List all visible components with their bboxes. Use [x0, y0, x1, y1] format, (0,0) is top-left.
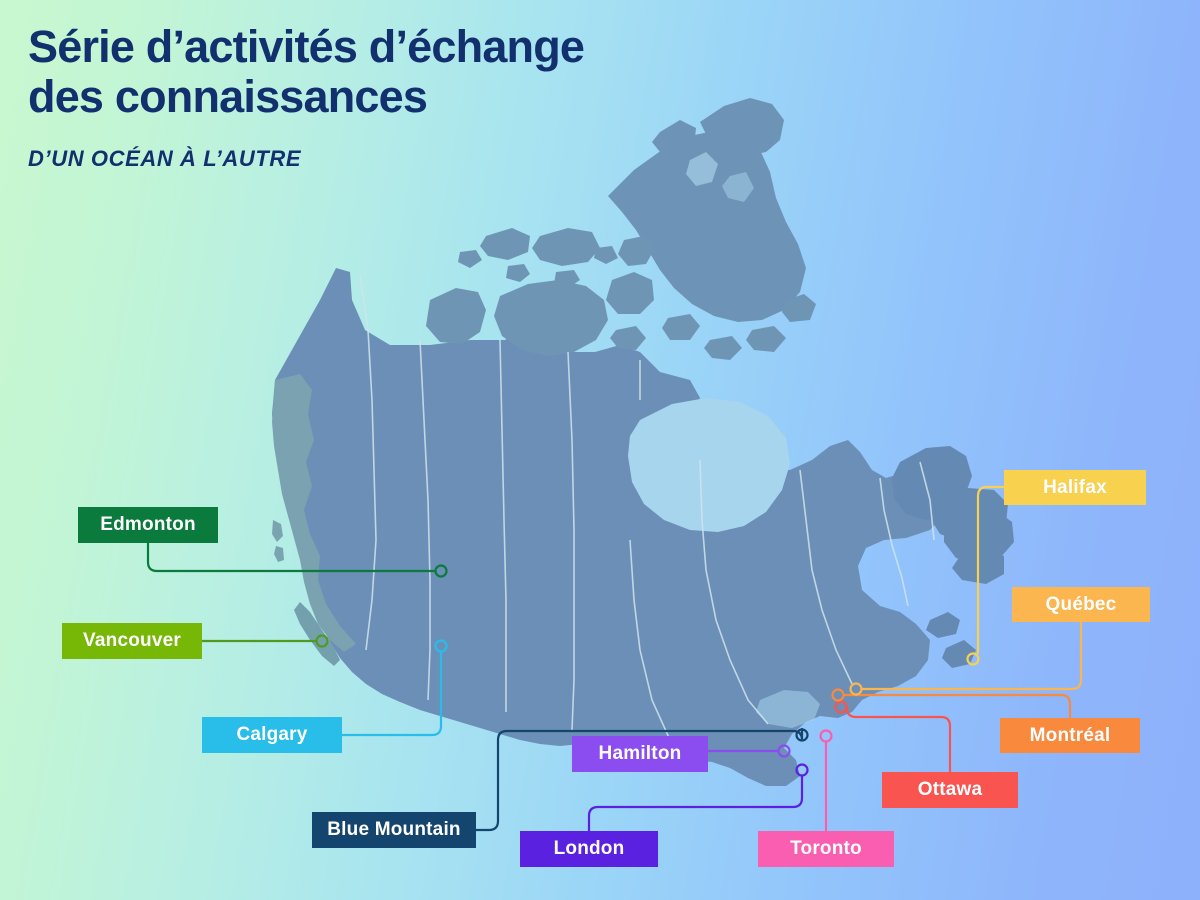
connector-edmonton: [148, 543, 447, 577]
connector-hamilton: [708, 746, 790, 757]
city-label-halifax[interactable]: Halifax: [1004, 470, 1146, 505]
connector-ottawa: [836, 702, 951, 773]
city-label-blue-mountain[interactable]: Blue Mountain: [312, 812, 476, 848]
city-label-calgary[interactable]: Calgary: [202, 717, 342, 753]
city-label-montreal[interactable]: Montréal: [1000, 718, 1140, 753]
title-block: Série d’activités d’échange des connaiss…: [28, 22, 584, 172]
connector-quebec: [851, 622, 1082, 695]
city-label-quebec[interactable]: Québec: [1012, 587, 1150, 622]
connector-halifax: [968, 487, 1005, 665]
city-label-toronto[interactable]: Toronto: [758, 831, 894, 867]
city-label-edmonton[interactable]: Edmonton: [78, 507, 218, 543]
connector-vancouver: [202, 636, 328, 647]
city-label-vancouver[interactable]: Vancouver: [62, 623, 202, 659]
connector-montreal: [833, 690, 1071, 719]
city-label-hamilton[interactable]: Hamilton: [572, 736, 708, 772]
infographic-canvas: Série d’activités d’échange des connaiss…: [0, 0, 1200, 900]
page-title: Série d’activités d’échange des connaiss…: [28, 22, 584, 122]
page-subtitle: D’UN OCÉAN À L’AUTRE: [28, 146, 584, 172]
connector-calgary: [342, 641, 447, 736]
connector-toronto: [821, 731, 832, 832]
city-label-ottawa[interactable]: Ottawa: [882, 772, 1018, 808]
connector-london: [589, 765, 808, 832]
city-label-london[interactable]: London: [520, 831, 658, 867]
